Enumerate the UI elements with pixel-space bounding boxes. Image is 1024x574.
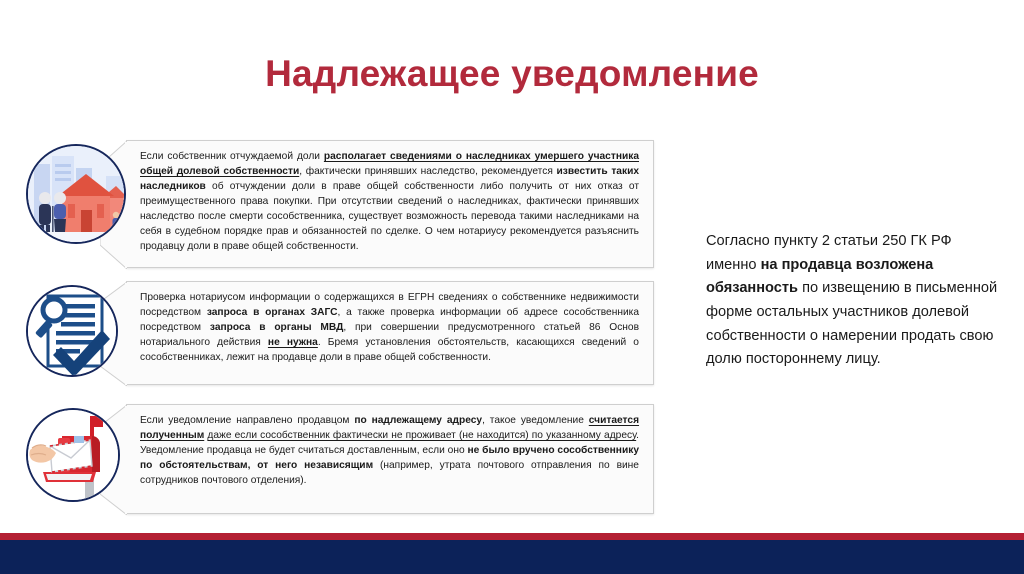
elderly-couple-house-illustration: [26, 144, 126, 244]
callout-text-2: Проверка нотариусом информации о содержа…: [126, 282, 653, 374]
footer-bar: [0, 540, 1024, 574]
document-magnifier-checkmark-icon: [26, 285, 118, 377]
hand-envelope-mailbox-illustration: [26, 408, 120, 502]
page-title: Надлежащее уведомление: [0, 54, 1024, 95]
callout-text-1: Если собственник отчуждаемой доли распол…: [126, 141, 653, 263]
right-side-note: Согласно пункту 2 статьи 250 ГК РФ именн…: [706, 230, 1006, 372]
callout-box-3: Если уведомление направлено продавцом по…: [126, 404, 654, 514]
callout-box-2: Проверка нотариусом информации о содержа…: [126, 281, 654, 385]
callout-box-1: Если собственник отчуждаемой доли распол…: [126, 140, 654, 268]
callout-text-3: Если уведомление направлено продавцом по…: [126, 405, 653, 497]
footer-accent-stripe: [0, 533, 1024, 540]
